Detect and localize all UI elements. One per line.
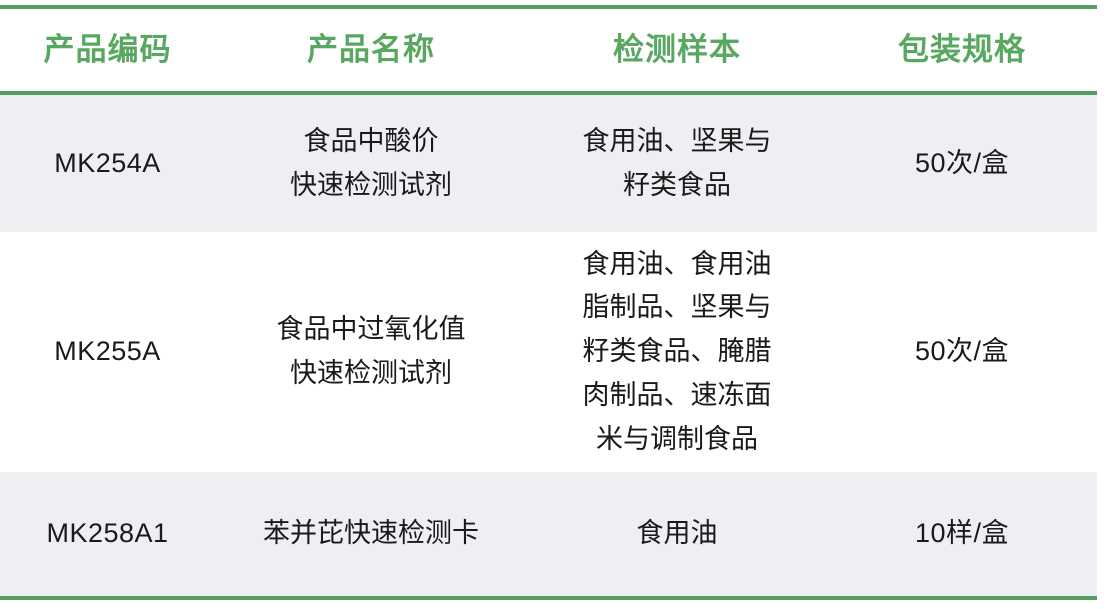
cell-test-sample: 食用油、食用油 脂制品、坚果与 籽类食品、腌腊 肉制品、速冻面 米与调制食品 [527, 243, 827, 462]
cell-package-spec: 50次/盒 [827, 142, 1097, 186]
table-bottom-rule [0, 596, 1097, 600]
cell-product-code: MK254A [0, 142, 215, 186]
cell-product-code: MK258A1 [0, 512, 215, 556]
cell-test-sample: 食用油 [527, 512, 827, 556]
column-header-sample: 检测样本 [527, 31, 827, 68]
cell-product-name: 食品中过氧化值 快速检测试剂 [215, 308, 527, 395]
table-row: MK255A 食品中过氧化值 快速检测试剂 食用油、食用油 脂制品、坚果与 籽类… [0, 232, 1097, 472]
table-row: MK258A1 苯并芘快速检测卡 食用油 10样/盒 [0, 472, 1097, 596]
cell-product-code: MK255A [0, 330, 215, 374]
cell-product-name: 食品中酸价 快速检测试剂 [215, 120, 527, 207]
product-specification-table: 产品编码 产品名称 检测样本 包装规格 MK254A 食品中酸价 快速检测试剂 … [0, 0, 1106, 609]
column-header-code: 产品编码 [0, 31, 215, 68]
table-row: MK254A 食品中酸价 快速检测试剂 食用油、坚果与 籽类食品 50次/盒 [0, 95, 1097, 232]
column-header-name: 产品名称 [215, 31, 527, 68]
cell-product-name: 苯并芘快速检测卡 [215, 512, 527, 556]
cell-package-spec: 50次/盒 [827, 330, 1097, 374]
column-header-spec: 包装规格 [827, 31, 1097, 68]
cell-package-spec: 10样/盒 [827, 512, 1097, 556]
table-body: MK254A 食品中酸价 快速检测试剂 食用油、坚果与 籽类食品 50次/盒 M… [0, 95, 1097, 596]
cell-test-sample: 食用油、坚果与 籽类食品 [527, 120, 827, 207]
table-header-row: 产品编码 产品名称 检测样本 包装规格 [0, 9, 1097, 91]
